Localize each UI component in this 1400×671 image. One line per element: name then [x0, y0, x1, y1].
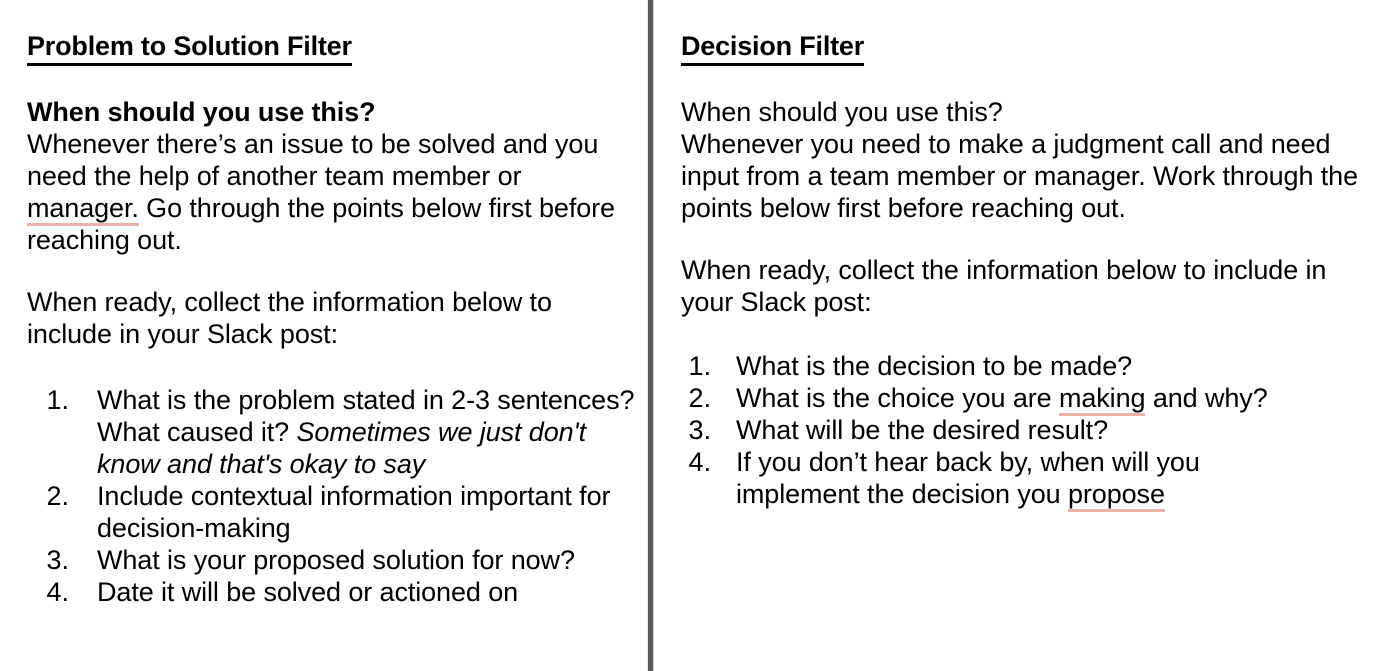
- list-item-text: Include contextual information important…: [97, 480, 640, 544]
- list-item-number: 1.: [681, 350, 711, 382]
- right-heading-wrap: Decision Filter: [681, 30, 1370, 66]
- list-item-number: 3.: [681, 414, 711, 446]
- right-numbered-list: 1. What is the decision to be made? 2. W…: [681, 350, 1370, 510]
- list-item-number: 4.: [27, 576, 69, 608]
- list-item: 1. What is the decision to be made?: [681, 350, 1370, 382]
- list-item-text: What is the choice you are making and wh…: [736, 382, 1306, 414]
- list-item-text-pre: What is the choice you are: [736, 383, 1059, 413]
- spellcheck-word-manager: manager.: [27, 193, 139, 226]
- list-item: 4. If you don’t hear back by, when will …: [681, 446, 1370, 510]
- list-item: 1. What is the problem stated in 2‑3 sen…: [27, 384, 640, 480]
- left-numbered-list: 1. What is the problem stated in 2‑3 sen…: [27, 384, 640, 608]
- list-item: 3. What will be the desired result?: [681, 414, 1370, 446]
- list-item-number: 2.: [27, 480, 69, 512]
- left-ready-paragraph: When ready, collect the information belo…: [27, 286, 640, 350]
- list-item-text-pre: What will be the desired result?: [736, 415, 1108, 445]
- left-intro-paragraph: When should you use this? Whenever there…: [27, 96, 640, 256]
- list-item: 3. What is your proposed solution for no…: [27, 544, 640, 576]
- list-item: 2. Include contextual information import…: [27, 480, 640, 544]
- list-item-number: 4.: [681, 446, 711, 478]
- list-item-text: What is the decision to be made?: [736, 350, 1306, 382]
- list-item-text-post: and why?: [1145, 383, 1267, 413]
- list-item-text: Date it will be solved or actioned on: [97, 576, 640, 608]
- right-when-should-heading: When should you use this?: [681, 97, 1003, 127]
- list-item-text-normal: What is your proposed solution for now?: [97, 545, 575, 575]
- list-item-text-normal: Date it will be solved or actioned on: [97, 577, 518, 607]
- spacer: [27, 256, 640, 286]
- right-intro-paragraph: When should you use this? Whenever you n…: [681, 96, 1370, 224]
- left-heading-wrap: Problem to Solution Filter: [27, 30, 640, 66]
- list-item-text: What is your proposed solution for now?: [97, 544, 640, 576]
- list-item-text: What will be the desired result?: [736, 414, 1306, 446]
- spacer: [681, 224, 1370, 254]
- spacer: [681, 66, 1370, 96]
- list-item-text-normal: Include contextual information important…: [97, 481, 610, 543]
- left-column: Problem to Solution Filter When should y…: [0, 0, 648, 671]
- left-intro-part1: Whenever there’s an issue to be solved a…: [27, 129, 598, 191]
- spacer: [27, 66, 640, 96]
- list-item-number: 1.: [27, 384, 69, 416]
- right-column-heading: Decision Filter: [681, 30, 864, 66]
- slide-canvas: Problem to Solution Filter When should y…: [0, 0, 1400, 671]
- list-item-text: If you don’t hear back by, when will you…: [736, 446, 1306, 510]
- right-column: Decision Filter When should you use this…: [648, 0, 1400, 671]
- list-item-number: 3.: [27, 544, 69, 576]
- right-ready-paragraph: When ready, collect the information belo…: [681, 254, 1370, 318]
- list-item: 2. What is the choice you are making and…: [681, 382, 1370, 414]
- list-item: 4. Date it will be solved or actioned on: [27, 576, 640, 608]
- spacer: [681, 318, 1370, 350]
- left-column-heading: Problem to Solution Filter: [27, 30, 352, 66]
- list-item-number: 2.: [681, 382, 711, 414]
- right-intro-text: Whenever you need to make a judgment cal…: [681, 129, 1358, 223]
- spellcheck-word-propose: propose: [1068, 479, 1165, 512]
- spellcheck-word-making: making: [1059, 383, 1145, 416]
- list-item-text: What is the problem stated in 2‑3 senten…: [97, 384, 640, 480]
- list-item-text-pre: What is the decision to be made?: [736, 351, 1132, 381]
- left-when-should-heading: When should you use this?: [27, 97, 376, 127]
- spacer: [27, 350, 640, 384]
